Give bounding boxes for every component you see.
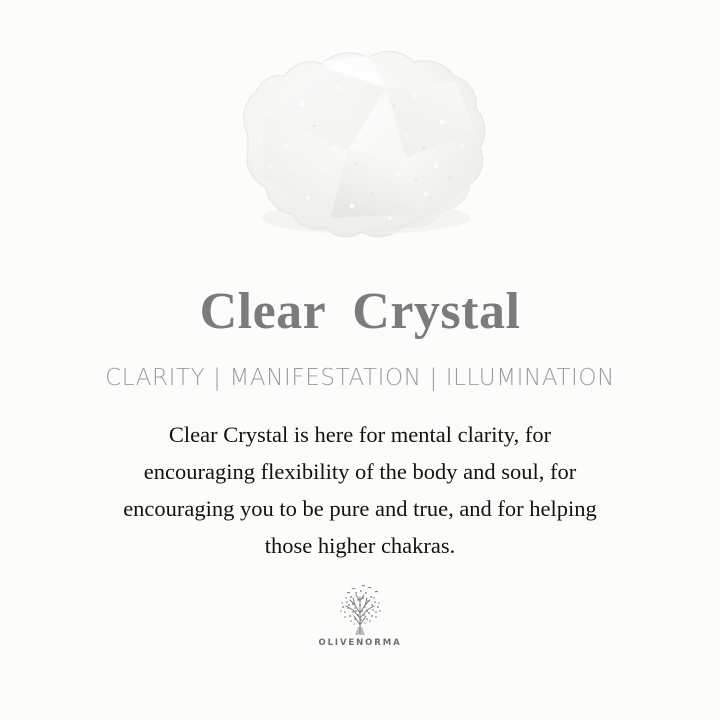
tree-trunk-base — [355, 627, 365, 635]
product-keywords: CLARITY | MANIFESTATION | ILLUMINATION — [105, 367, 615, 390]
tree-logo-icon — [329, 583, 391, 637]
description-line: Clear Crystal is here for mental clarity… — [40, 416, 680, 453]
product-description: Clear Crystal is here for mental clarity… — [40, 416, 680, 564]
crystal-stone-icon — [210, 18, 510, 268]
tree-foliage — [340, 590, 380, 625]
crystal-facets — [210, 18, 510, 268]
description-line: those higher chakras. — [40, 527, 680, 564]
product-image-container — [0, 0, 720, 286]
brand-lockup: OLIVENORMA — [318, 583, 401, 648]
tree-birds — [347, 585, 378, 593]
product-title: Clear Crystal — [200, 286, 521, 338]
description-line: encouraging flexibility of the body and … — [40, 453, 680, 490]
description-line: encouraging you to be pure and true, and… — [40, 490, 680, 527]
product-info-card: Clear Crystal CLARITY | MANIFESTATION | … — [0, 0, 720, 720]
brand-name: OLIVENORMA — [318, 639, 401, 648]
